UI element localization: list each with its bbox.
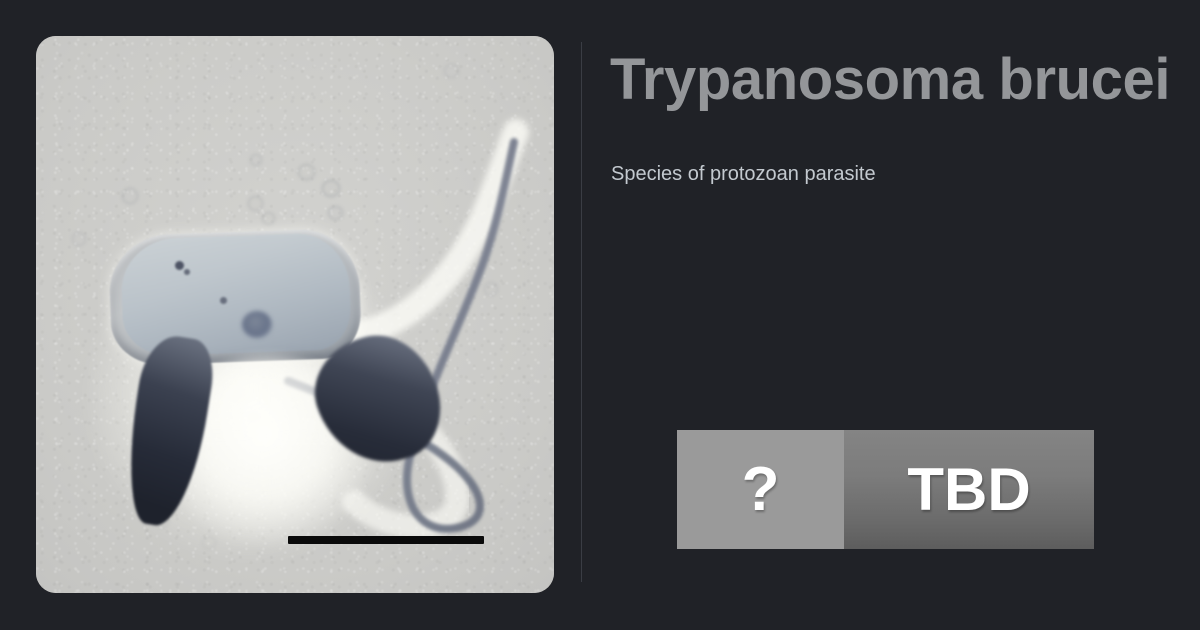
micrograph-panel	[36, 36, 554, 593]
question-mark-icon: ?	[742, 459, 780, 521]
cell-granule	[175, 261, 184, 270]
vertical-divider	[581, 42, 582, 582]
badge-right-section: TBD	[844, 430, 1094, 549]
badge-status-label: TBD	[907, 460, 1030, 520]
page-subtitle: Species of protozoan parasite	[611, 163, 876, 186]
badge-left-section: ?	[677, 430, 844, 549]
info-panel: Trypanosoma brucei Species of protozoan …	[610, 0, 1200, 630]
cell-granule	[220, 297, 227, 304]
cell-nucleus	[242, 311, 272, 338]
micrograph-image	[36, 36, 554, 593]
status-badge: ? TBD	[677, 430, 1094, 549]
scale-bar	[288, 536, 484, 544]
preview-card: Trypanosoma brucei Species of protozoan …	[0, 0, 1200, 630]
cell-granule	[184, 269, 190, 275]
page-title: Trypanosoma brucei	[610, 46, 1170, 114]
cell-body	[108, 228, 362, 367]
